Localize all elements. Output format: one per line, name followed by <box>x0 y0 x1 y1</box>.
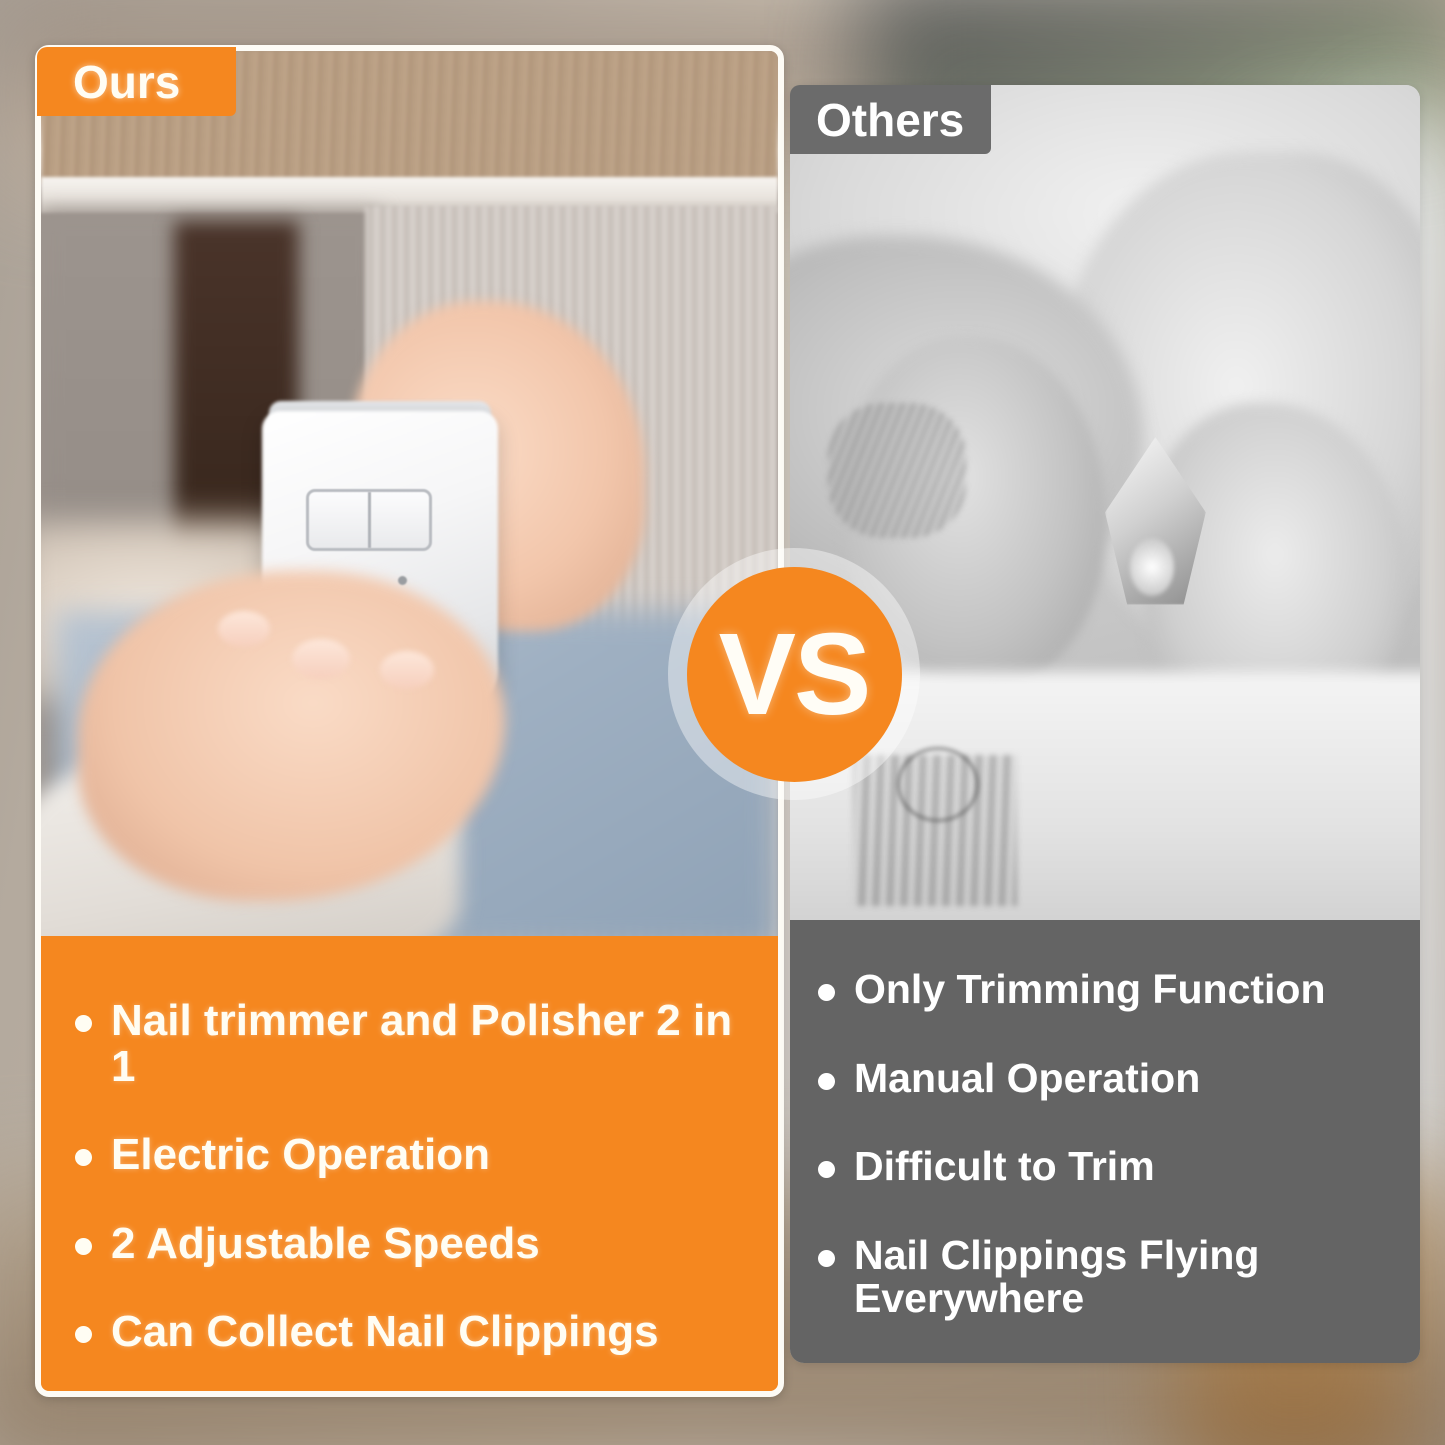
feature-text: Only Trimming Function <box>854 968 1326 1011</box>
ours-tag-label: Ours <box>73 59 180 105</box>
ours-product-photo <box>41 51 778 948</box>
list-item: 2 Adjustable Speeds <box>75 1221 748 1267</box>
others-comparison-photo <box>790 85 1420 923</box>
ours-feature-block: Nail trimmer and Polisher 2 in 1 Electri… <box>41 936 778 1391</box>
list-item: Can Collect Nail Clippings <box>75 1309 748 1355</box>
comparison-infographic: Nail trimmer and Polisher 2 in 1 Electri… <box>0 0 1445 1445</box>
list-item: Nail trimmer and Polisher 2 in 1 <box>75 998 748 1090</box>
list-item: Only Trimming Function <box>818 968 1396 1011</box>
photo-skin-texture <box>828 403 967 537</box>
feature-text: Electric Operation <box>111 1132 490 1178</box>
ours-tag: Ours <box>37 47 236 116</box>
list-item: Electric Operation <box>75 1132 748 1178</box>
bullet-icon <box>818 1161 835 1178</box>
list-item: Difficult to Trim <box>818 1145 1396 1188</box>
photo-fingernail <box>218 611 270 647</box>
bullet-icon <box>818 1073 835 1090</box>
bullet-icon <box>75 1238 92 1255</box>
versus-label: VS <box>719 616 870 732</box>
bullet-icon <box>818 984 835 1001</box>
bullet-icon <box>75 1149 92 1166</box>
photo-fingernail <box>292 639 350 679</box>
bullet-icon <box>75 1015 92 1032</box>
others-feature-block: Only Trimming Function Manual Operation … <box>790 920 1420 1363</box>
feature-text: Can Collect Nail Clippings <box>111 1309 659 1355</box>
feature-text: Manual Operation <box>854 1057 1200 1100</box>
list-item: Manual Operation <box>818 1057 1396 1100</box>
others-feature-list: Only Trimming Function Manual Operation … <box>818 968 1396 1319</box>
photo-clipper-glint <box>1130 538 1174 597</box>
ours-panel: Nail trimmer and Polisher 2 in 1 Electri… <box>35 45 784 1397</box>
others-tag: Others <box>790 85 991 154</box>
feature-text: Nail trimmer and Polisher 2 in 1 <box>111 998 748 1090</box>
feature-text: Nail Clippings Flying Everywhere <box>854 1234 1396 1319</box>
versus-badge: VS <box>668 548 920 800</box>
others-tag-label: Others <box>816 97 964 143</box>
list-item: Nail Clippings Flying Everywhere <box>818 1234 1396 1319</box>
bullet-icon <box>75 1326 92 1343</box>
feature-text: Difficult to Trim <box>854 1145 1155 1188</box>
photo-cloth-badge <box>897 747 979 822</box>
feature-text: 2 Adjustable Speeds <box>111 1221 540 1267</box>
versus-circle: VS <box>687 567 902 782</box>
bullet-icon <box>818 1250 835 1267</box>
photo-device-button-divider <box>368 492 371 548</box>
ours-feature-list: Nail trimmer and Polisher 2 in 1 Electri… <box>75 998 748 1355</box>
photo-fingernail <box>380 651 434 689</box>
